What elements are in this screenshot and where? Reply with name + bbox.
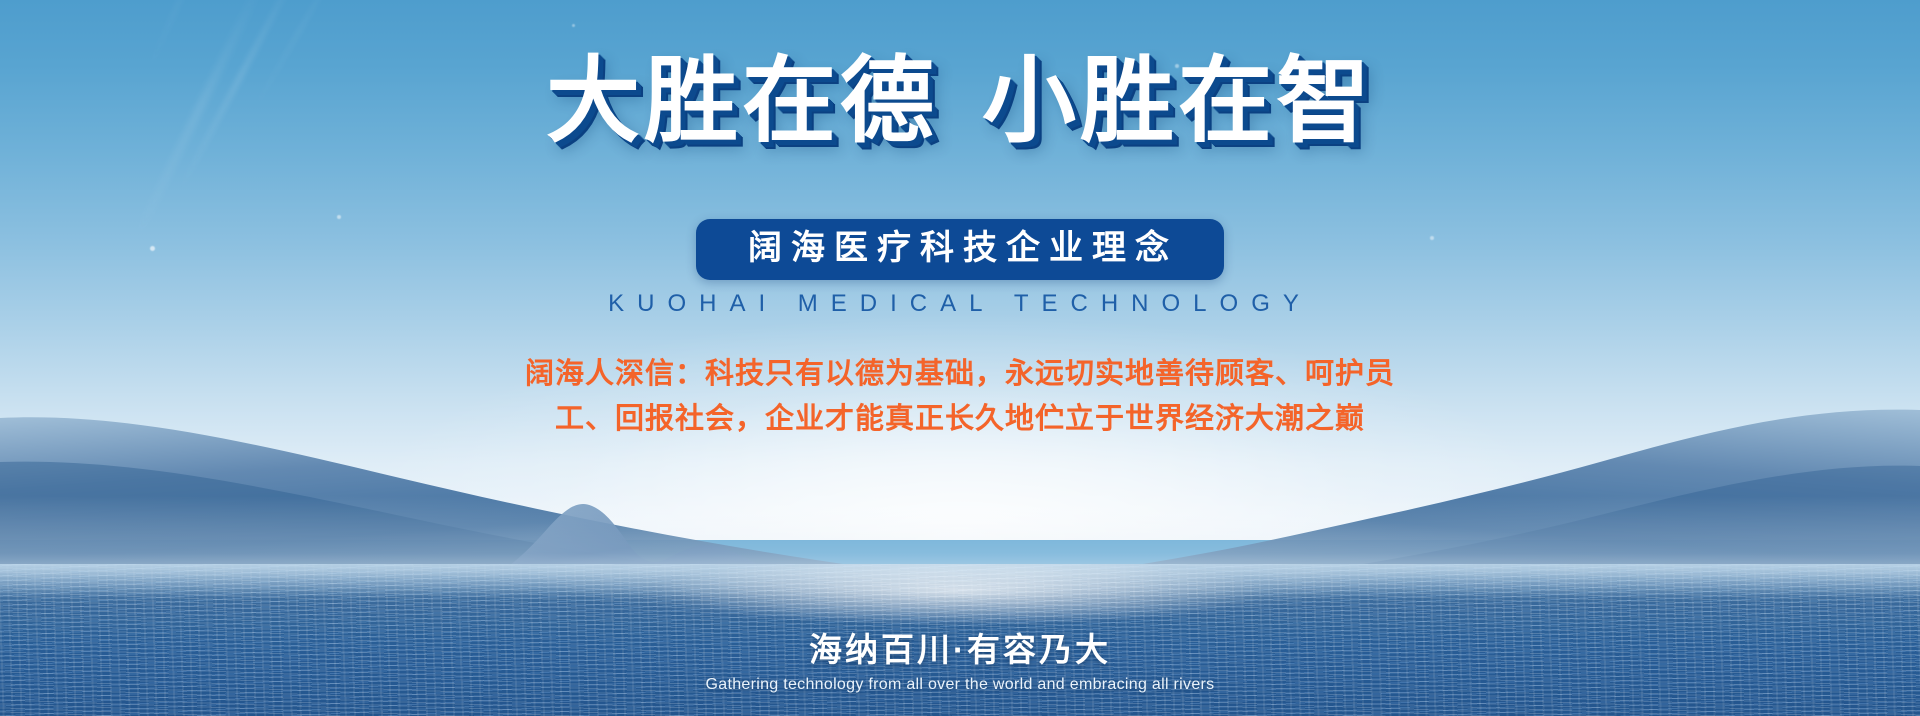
- footer-english: Gathering technology from all over the w…: [0, 676, 1920, 694]
- content-layer: 大胜在德小胜在智 阔海医疗科技企业理念 KUOHAI MEDICAL TECHN…: [0, 0, 1920, 716]
- subtitle-english: KUOHAI MEDICAL TECHNOLOGY: [0, 290, 1920, 318]
- slogan-line-1: 阔海人深信：科技只有以德为基础，永远切实地善待顾客、呵护员: [0, 352, 1920, 397]
- page-title: 大胜在德小胜在智: [0, 50, 1920, 152]
- status-badge: 阔海医疗科技企业理念: [696, 219, 1224, 280]
- footer-block: 海纳百川·有容乃大 Gathering technology from all …: [0, 629, 1920, 694]
- headline-left: 大胜在德: [546, 48, 938, 153]
- slogan-block: 阔海人深信：科技只有以德为基础，永远切实地善待顾客、呵护员 工、回报社会，企业才…: [0, 352, 1920, 442]
- slogan-line-2: 工、回报社会，企业才能真正长久地伫立于世界经济大潮之巅: [0, 397, 1920, 442]
- footer-chinese: 海纳百川·有容乃大: [0, 629, 1920, 670]
- badge-container: 阔海医疗科技企业理念: [0, 219, 1920, 280]
- banner-canvas: 大胜在德小胜在智 阔海医疗科技企业理念 KUOHAI MEDICAL TECHN…: [0, 0, 1920, 716]
- headline-right: 小胜在智: [982, 48, 1374, 153]
